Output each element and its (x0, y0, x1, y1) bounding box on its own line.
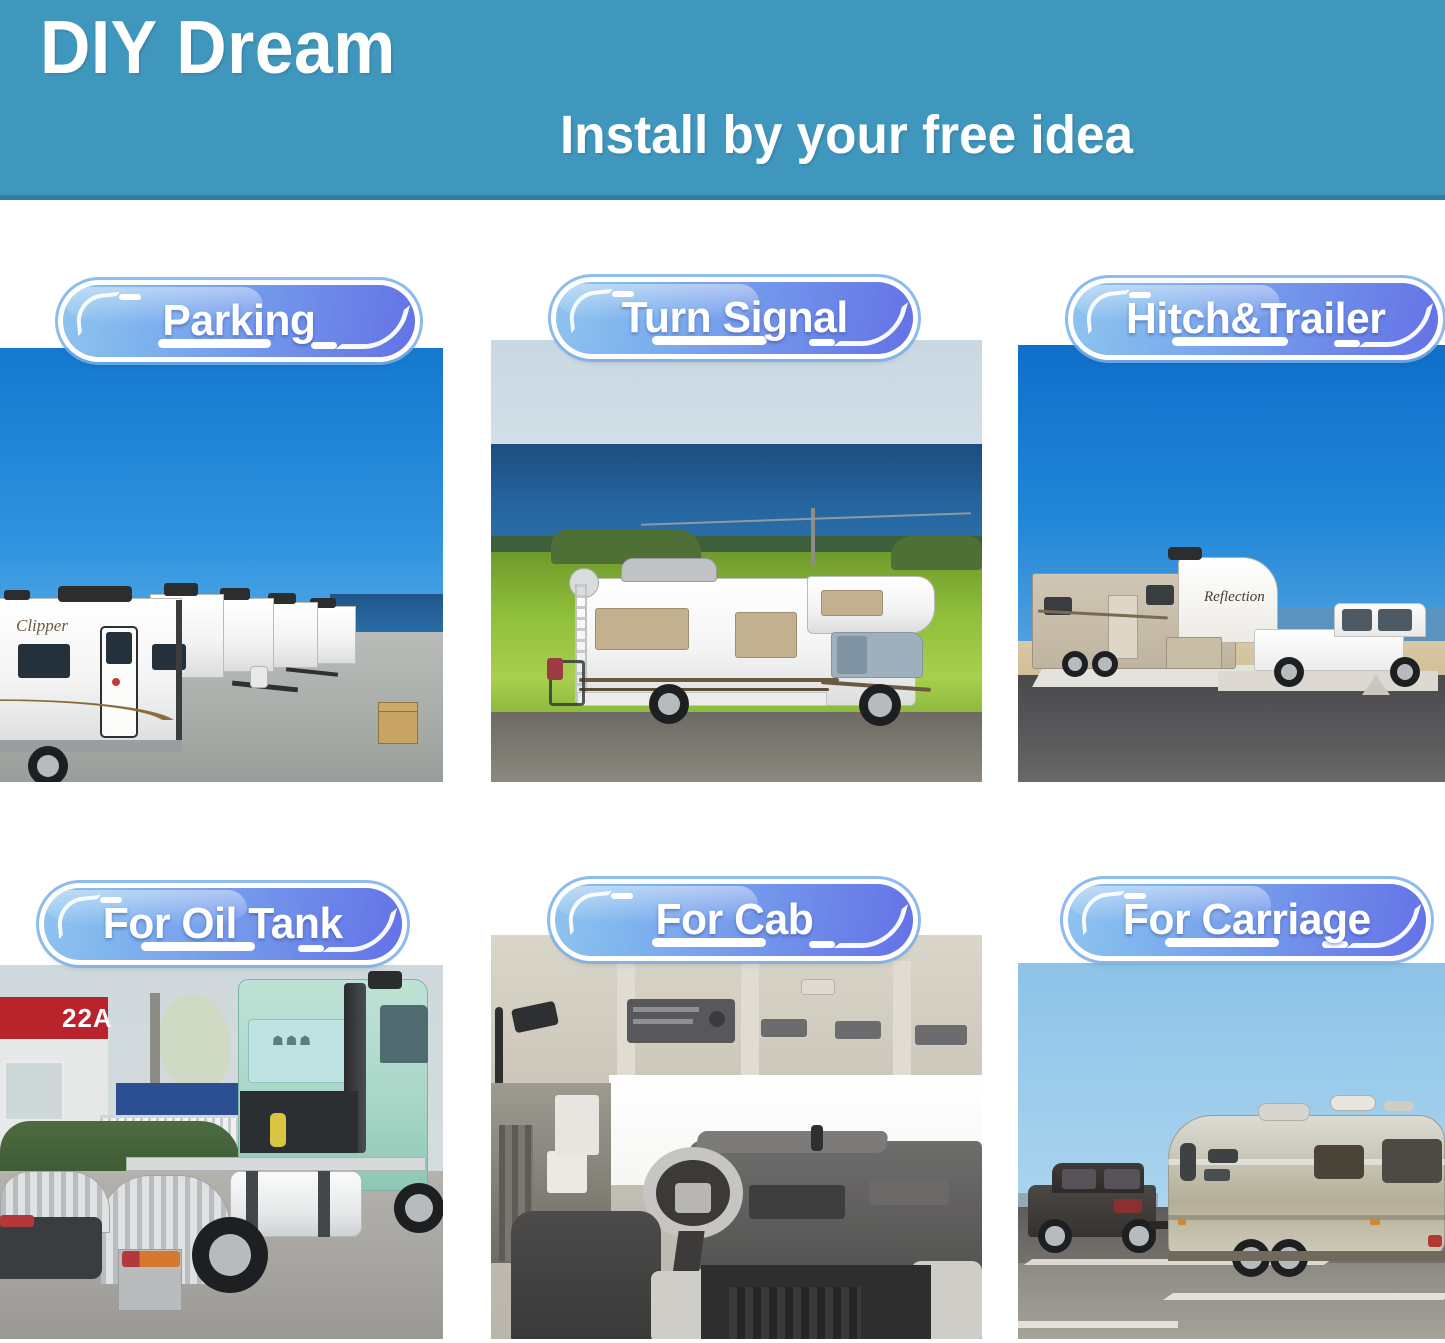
photo-for-carriage (1018, 963, 1445, 1343)
photo-hitch-trailer: Reflection (1018, 345, 1445, 782)
badge-label: For Oil Tank (103, 902, 343, 946)
badge-parking[interactable]: Parking (63, 285, 415, 357)
pill-arc-icon (74, 292, 124, 337)
badge-for-oil-tank[interactable]: For Oil Tank (44, 888, 402, 960)
badge-turn-signal[interactable]: Turn Signal (556, 282, 913, 354)
photo-for-cab (491, 935, 982, 1343)
pill-swoosh-icon (336, 305, 411, 349)
pill-dash-icon (611, 893, 633, 899)
building-sign-number: 22A (62, 1003, 113, 1034)
photo-for-oil-tank: 22A ☗☗☗ (0, 965, 443, 1343)
page-title: DIY Dream (40, 10, 396, 85)
badge-label: For Carriage (1123, 898, 1371, 942)
pill-arc-icon (566, 891, 616, 936)
photo-parking: Clipper (0, 348, 443, 782)
bottom-edge (0, 1339, 1445, 1343)
photo-turn-signal (491, 340, 982, 782)
header-banner: DIY Dream Install by your free idea (0, 0, 1445, 200)
pill-arc-icon (1079, 891, 1129, 936)
page-subtitle: Install by your free idea (560, 108, 1133, 162)
badge-label: Turn Signal (621, 296, 847, 340)
pill-arc-icon (567, 289, 617, 334)
trailer-decal: Clipper (16, 616, 68, 636)
trailer-brand-script: Reflection (1204, 589, 1265, 606)
pill-swoosh-icon (834, 904, 909, 948)
badge-hitch-trailer[interactable]: Hitch&Trailer (1073, 283, 1438, 355)
pill-arc-icon (55, 895, 105, 940)
badge-label: Hitch&Trailer (1126, 297, 1385, 341)
badge-label: For Cab (655, 898, 813, 942)
cab-badge-text: ☗☗☗ (272, 1033, 313, 1049)
badge-label: Parking (162, 299, 315, 343)
badge-for-carriage[interactable]: For Carriage (1068, 884, 1426, 956)
pill-dash-icon (119, 294, 141, 300)
badge-for-cab[interactable]: For Cab (555, 884, 913, 956)
